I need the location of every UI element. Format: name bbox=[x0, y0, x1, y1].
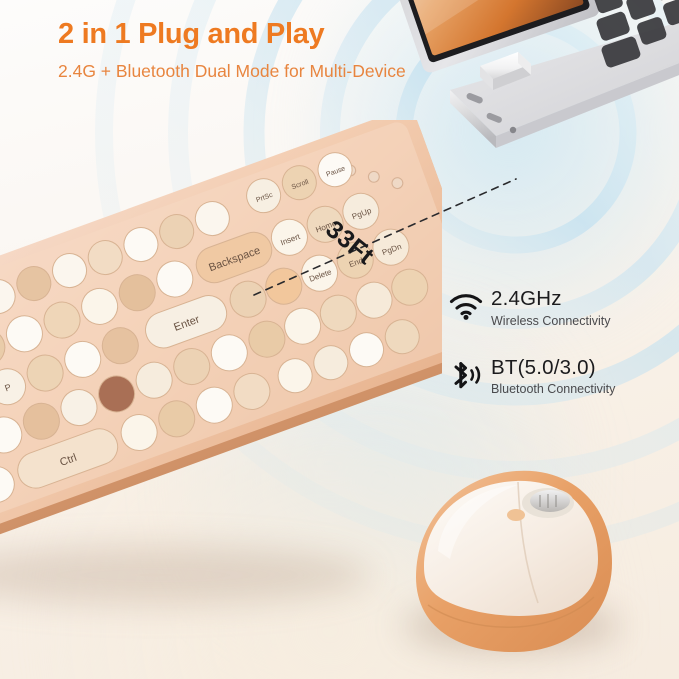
feature-list: 2.4GHz Wireless Connectivity BT(5.0/3.0)… bbox=[443, 288, 615, 426]
feature-bluetooth: BT(5.0/3.0) Bluetooth Connectivity bbox=[443, 357, 615, 397]
feature-wireless: 2.4GHz Wireless Connectivity bbox=[443, 288, 615, 328]
bluetooth-icon bbox=[443, 357, 489, 389]
feature-bluetooth-subtitle: Bluetooth Connectivity bbox=[491, 382, 615, 396]
feature-wireless-title: 2.4GHz bbox=[491, 288, 610, 311]
page-subtitle: 2.4G + Bluetooth Dual Mode for Multi-Dev… bbox=[58, 60, 438, 83]
feature-bluetooth-text: BT(5.0/3.0) Bluetooth Connectivity bbox=[489, 357, 615, 397]
wireless-mouse bbox=[398, 455, 628, 665]
feature-wireless-text: 2.4GHz Wireless Connectivity bbox=[489, 288, 610, 328]
range-measure: 33Ft bbox=[250, 175, 520, 300]
page-title: 2 in 1 Plug and Play bbox=[58, 18, 438, 51]
product-infographic: 2 in 1 Plug and Play 2.4G + Bluetooth Du… bbox=[0, 0, 679, 679]
dpi-button bbox=[507, 509, 525, 521]
dashed-measure-line bbox=[250, 175, 520, 300]
feature-bluetooth-title: BT(5.0/3.0) bbox=[491, 357, 615, 380]
wifi-icon bbox=[443, 288, 489, 320]
headline-block: 2 in 1 Plug and Play 2.4G + Bluetooth Du… bbox=[58, 18, 438, 83]
scroll-wheel bbox=[522, 488, 574, 518]
feature-wireless-subtitle: Wireless Connectivity bbox=[491, 314, 610, 328]
